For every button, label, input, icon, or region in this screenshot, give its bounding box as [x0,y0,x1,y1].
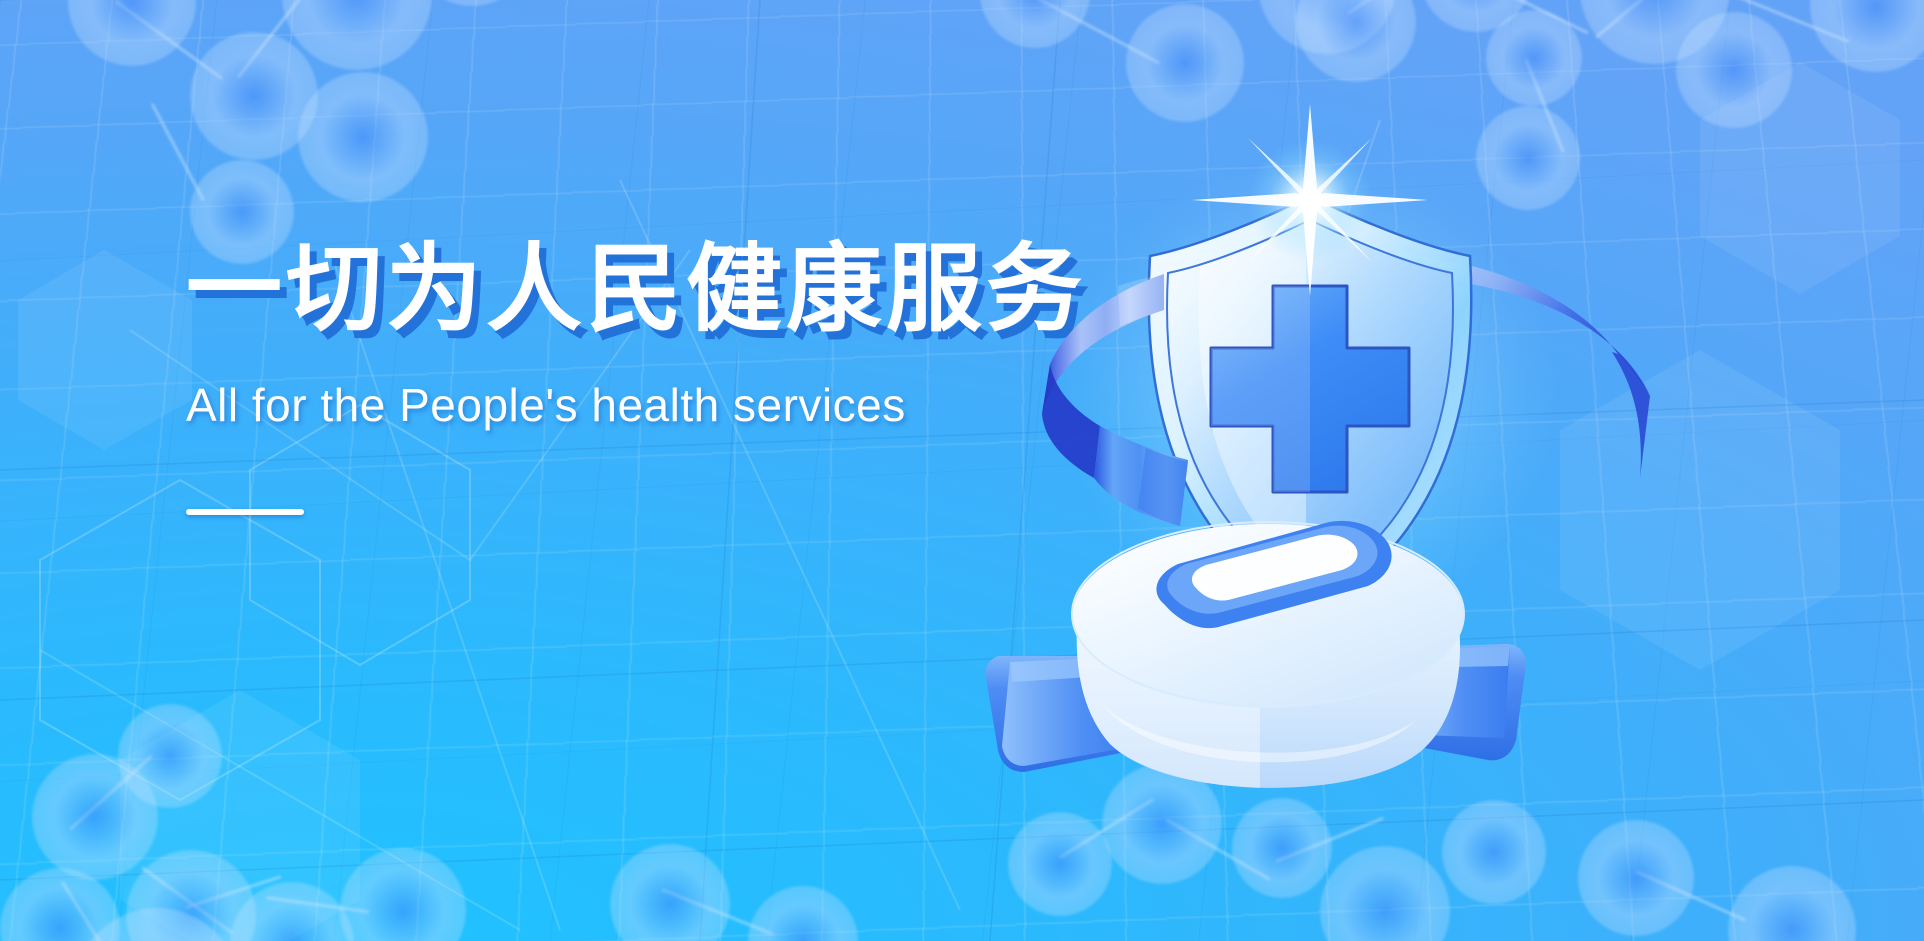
shield-artwork [950,96,1710,836]
health-banner: 一切为人民健康服务 All for the People's health se… [0,0,1924,941]
title-divider [186,509,304,515]
medical-shield-illustration [1180,96,1880,836]
